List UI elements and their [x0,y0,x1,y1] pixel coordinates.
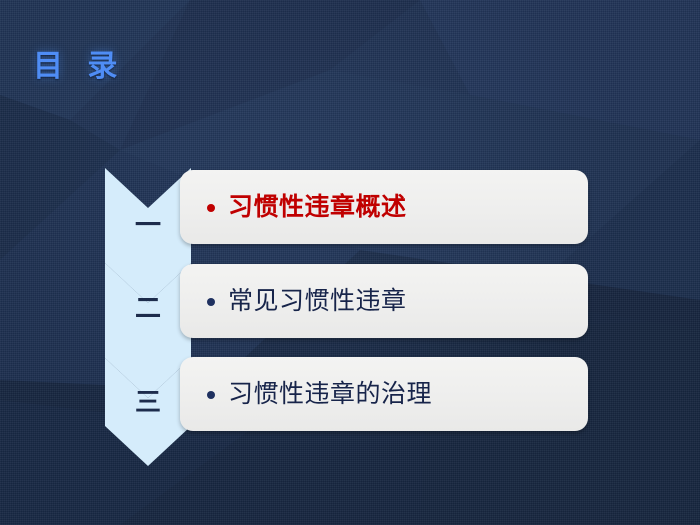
toc-numeral-3: 三 [105,389,191,415]
toc-numeral-2: 二 [105,295,191,321]
toc-item-1-row: 习惯性违章概述 [180,170,407,244]
toc-numeral-1: 一 [105,212,191,238]
bullet-icon [207,298,215,306]
page-title: 目 录 [33,41,125,85]
toc-item-3-label: 习惯性违章的治理 [228,382,432,407]
toc-item-2-label: 常见习惯性违章 [228,289,407,314]
toc-item-1[interactable]: 习惯性违章概述 [180,170,588,244]
toc-item-2-row: 常见习惯性违章 [180,264,407,338]
bullet-icon [207,391,215,399]
toc-item-1-label: 习惯性违章概述 [228,195,407,220]
toc-item-3-row: 习惯性违章的治理 [180,357,432,431]
toc-item-2[interactable]: 常见习惯性违章 [180,264,588,338]
toc-item-3[interactable]: 习惯性违章的治理 [180,357,588,431]
bullet-icon [207,204,215,212]
presentation-slide: 目 录 一 二 三 习惯性违章概述 常见习惯性违章 习惯性违章的治理 [0,0,700,525]
